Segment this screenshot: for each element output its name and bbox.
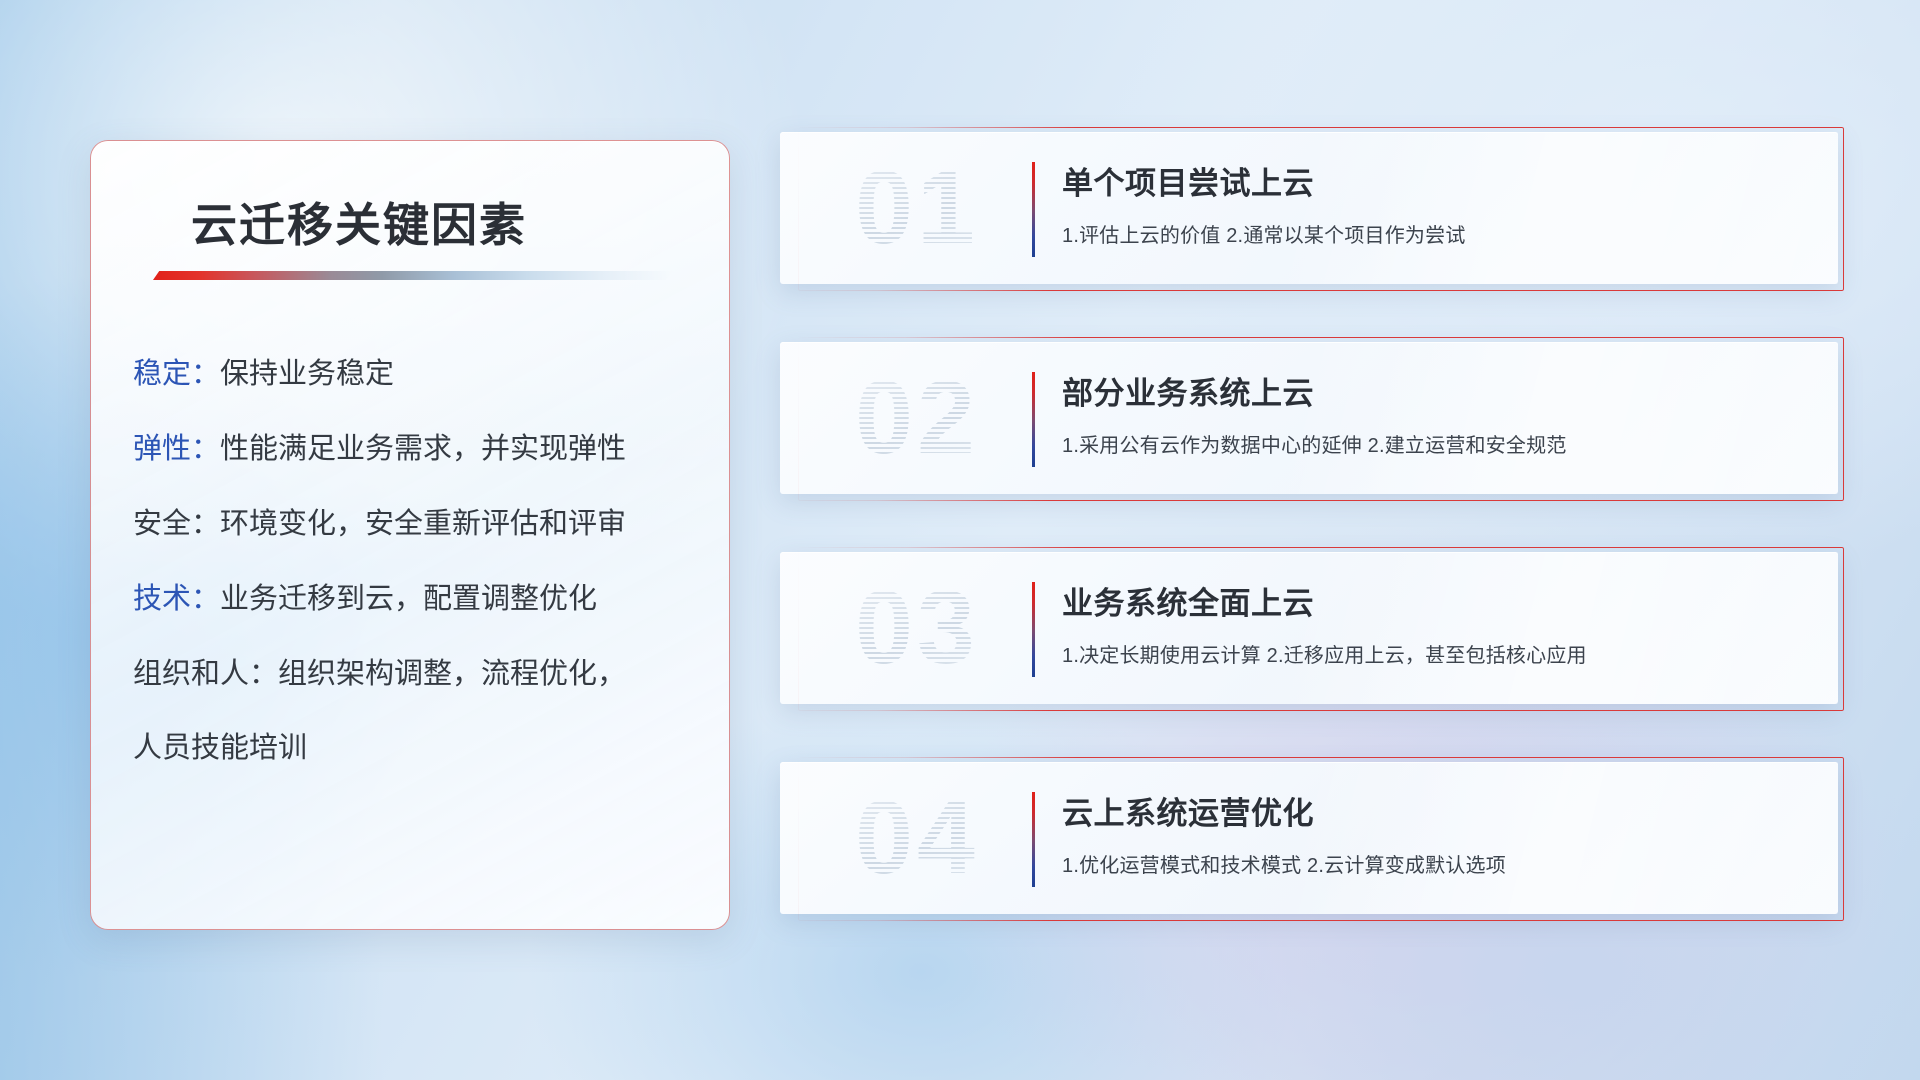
stage-card-list: 01单个项目尝试上云1.评估上云的价值 2.通常以某个项目作为尝试02部分业务系… [780, 132, 1838, 972]
factor-row: 稳定：保持业务稳定 [133, 359, 705, 391]
card-body: 单个项目尝试上云1.评估上云的价值 2.通常以某个项目作为尝试 [1062, 158, 1810, 248]
stage-number: 04 [812, 772, 1022, 904]
factor-text: 保持业务稳定 [220, 359, 394, 391]
stage-number: 01 [812, 142, 1022, 274]
factor-label: 稳定： [133, 359, 220, 391]
title-underline-gradient [153, 271, 673, 280]
card-body: 业务系统全面上云1.决定长期使用云计算 2.迁移应用上云，甚至包括核心应用 [1062, 578, 1810, 668]
factor-row: 安全：环境变化，安全重新评估和评审 [133, 509, 705, 541]
stage-title: 部分业务系统上云 [1062, 368, 1810, 413]
stage-card[interactable]: 04云上系统运营优化1.优化运营模式和技术模式 2.云计算变成默认选项 [780, 762, 1838, 914]
stage-description: 1.采用公有云作为数据中心的延伸 2.建立运营和安全规范 [1062, 429, 1810, 458]
factor-row: 弹性：性能满足业务需求，并实现弹性 [133, 434, 705, 466]
card-body: 部分业务系统上云1.采用公有云作为数据中心的延伸 2.建立运营和安全规范 [1062, 368, 1810, 458]
stage-title: 云上系统运营优化 [1062, 788, 1810, 833]
stage-card[interactable]: 02部分业务系统上云1.采用公有云作为数据中心的延伸 2.建立运营和安全规范 [780, 342, 1838, 494]
stage-number: 03 [812, 562, 1022, 694]
card-accent-bar [1032, 162, 1035, 257]
factor-label: 技术： [133, 584, 220, 616]
stage-description: 1.决定长期使用云计算 2.迁移应用上云，甚至包括核心应用 [1062, 639, 1810, 668]
factor-label: 安全： [133, 509, 220, 541]
card-accent-bar [1032, 372, 1035, 467]
factor-text: 业务迁移到云，配置调整优化 [220, 584, 597, 616]
key-factors-panel: 云迁移关键因素 稳定：保持业务稳定弹性：性能满足业务需求，并实现弹性安全：环境变… [90, 140, 730, 930]
factor-row: 技术：业务迁移到云，配置调整优化 [133, 584, 705, 616]
factor-row: 组织和人：组织架构调整，流程优化， [133, 659, 705, 691]
stage-card[interactable]: 03业务系统全面上云1.决定长期使用云计算 2.迁移应用上云，甚至包括核心应用 [780, 552, 1838, 704]
stage-card[interactable]: 01单个项目尝试上云1.评估上云的价值 2.通常以某个项目作为尝试 [780, 132, 1838, 284]
slide-stage: 云迁移关键因素 稳定：保持业务稳定弹性：性能满足业务需求，并实现弹性安全：环境变… [0, 0, 1920, 1080]
factor-list: 稳定：保持业务稳定弹性：性能满足业务需求，并实现弹性安全：环境变化，安全重新评估… [133, 359, 705, 808]
stage-number: 02 [812, 352, 1022, 484]
factor-text: 组织架构调整，流程优化， [278, 659, 626, 691]
factor-text: 性能满足业务需求，并实现弹性 [220, 434, 626, 466]
page-title: 云迁移关键因素 [191, 189, 527, 255]
factor-label: 组织和人： [133, 659, 278, 691]
card-accent-bar [1032, 792, 1035, 887]
stage-description: 1.优化运营模式和技术模式 2.云计算变成默认选项 [1062, 849, 1810, 878]
stage-title: 业务系统全面上云 [1062, 578, 1810, 623]
factor-label: 弹性： [133, 434, 220, 466]
factor-row: 人员技能培训 [133, 733, 705, 765]
stage-description: 1.评估上云的价值 2.通常以某个项目作为尝试 [1062, 219, 1810, 248]
factor-text: 人员技能培训 [133, 733, 307, 765]
card-accent-bar [1032, 582, 1035, 677]
stage-title: 单个项目尝试上云 [1062, 158, 1810, 203]
card-body: 云上系统运营优化1.优化运营模式和技术模式 2.云计算变成默认选项 [1062, 788, 1810, 878]
factor-text: 环境变化，安全重新评估和评审 [220, 509, 626, 541]
